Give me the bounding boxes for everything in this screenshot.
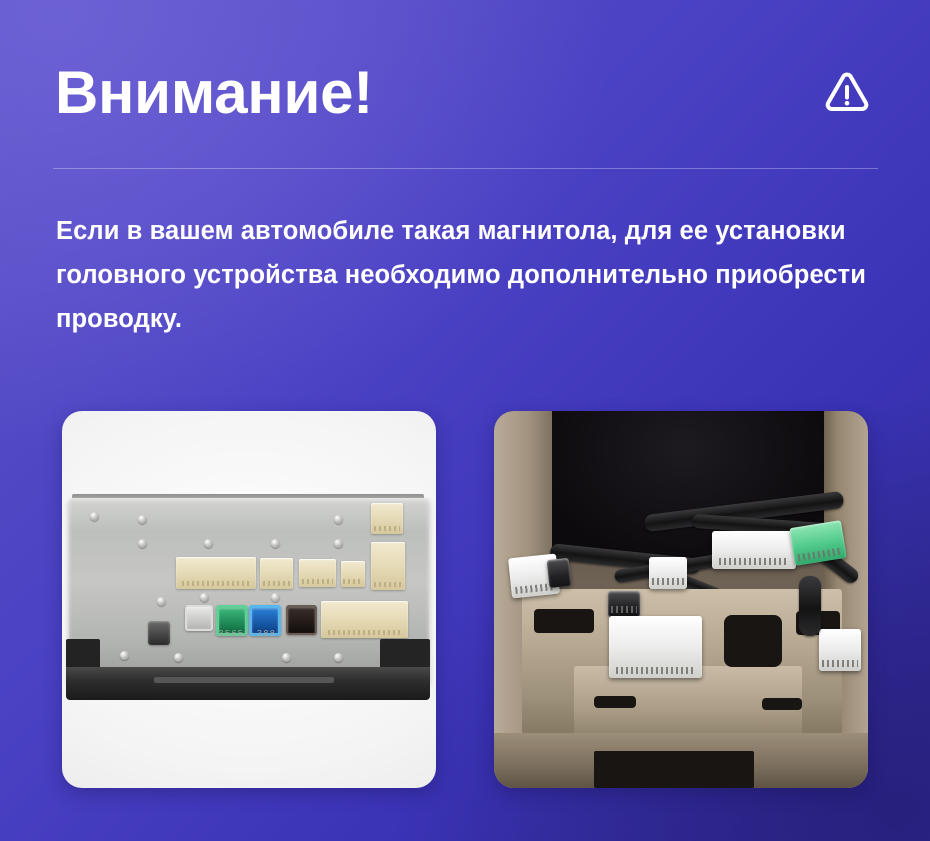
chassis-screw: [174, 653, 183, 662]
chassis-screw: [271, 539, 280, 548]
head-unit-vent-slot: [154, 677, 334, 683]
black-socket: [286, 605, 317, 635]
page-title: Внимание!: [55, 63, 373, 123]
chassis-screw: [138, 515, 147, 524]
chassis-screw: [200, 593, 209, 602]
dash-slot: [724, 615, 782, 667]
chassis-screw: [138, 539, 147, 548]
wiring-harness-photo: [494, 411, 868, 788]
chassis-screw: [334, 539, 343, 548]
beige-connector: [299, 559, 336, 587]
chassis-screw: [271, 593, 280, 602]
beige-connector: [260, 558, 293, 589]
harness-wire: [799, 576, 821, 636]
black-connector: [547, 558, 572, 588]
beige-connector: [371, 503, 403, 534]
chassis-screw: [334, 515, 343, 524]
notice-message: Если в вашем автомобиле такая магнитола,…: [56, 209, 882, 341]
car-head-unit-rear-photo: 135651-388: [62, 411, 436, 788]
photo-gallery: 135651-388: [62, 411, 868, 788]
white-connector: [649, 557, 687, 589]
white-connector: [712, 531, 796, 569]
dash-slot: [534, 609, 594, 633]
dash-opening: [594, 751, 754, 788]
board-part-number: 135651-388: [212, 629, 276, 639]
chassis-screw: [120, 651, 129, 660]
white-connector: [819, 629, 861, 671]
header-divider: [53, 168, 878, 169]
chassis-screw: [157, 597, 166, 606]
chassis-screw: [282, 653, 291, 662]
dash-slot: [594, 696, 636, 708]
chassis-screw: [204, 539, 213, 548]
attention-banner: Внимание! Если в вашем автомобиле такая …: [0, 0, 930, 841]
chassis-screw: [334, 653, 343, 662]
black-connector: [608, 591, 640, 617]
white-connector: [609, 616, 702, 678]
head-unit-bottom-rail: [66, 667, 430, 700]
beige-connector: [371, 542, 405, 590]
black-socket: [148, 621, 170, 645]
white-socket: [185, 605, 213, 631]
beige-connector: [176, 557, 256, 589]
beige-connector: [341, 561, 365, 587]
chassis-screw: [90, 512, 99, 521]
warning-triangle-icon: [819, 65, 875, 121]
banner-header: Внимание!: [55, 55, 875, 130]
beige-connector: [321, 601, 408, 638]
dash-slot: [762, 698, 802, 710]
green-connector: [789, 520, 846, 566]
